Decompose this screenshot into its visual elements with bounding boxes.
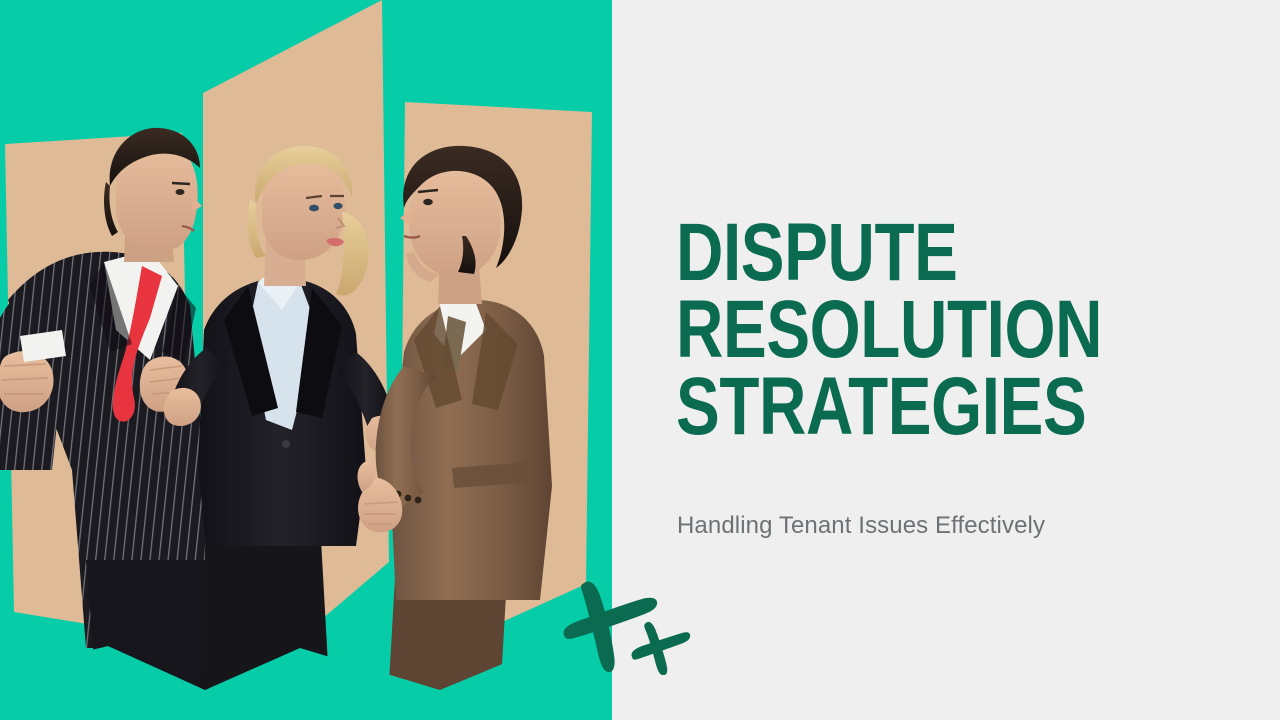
headline-line-1: DISPUTE <box>676 214 1124 291</box>
collage-photo-panel <box>0 0 612 720</box>
page-title: DISPUTE RESOLUTION STRATEGIES <box>676 214 1236 445</box>
page-subtitle: Handling Tenant Issues Effectively <box>677 512 1045 540</box>
collage-illustration <box>0 0 612 720</box>
text-panel: DISPUTE RESOLUTION STRATEGIES Handling T… <box>612 0 1280 720</box>
headline-line-3: STRATEGIES <box>676 368 1124 445</box>
slide-canvas: DISPUTE RESOLUTION STRATEGIES Handling T… <box>0 0 1280 720</box>
headline-line-2: RESOLUTION <box>676 291 1124 368</box>
